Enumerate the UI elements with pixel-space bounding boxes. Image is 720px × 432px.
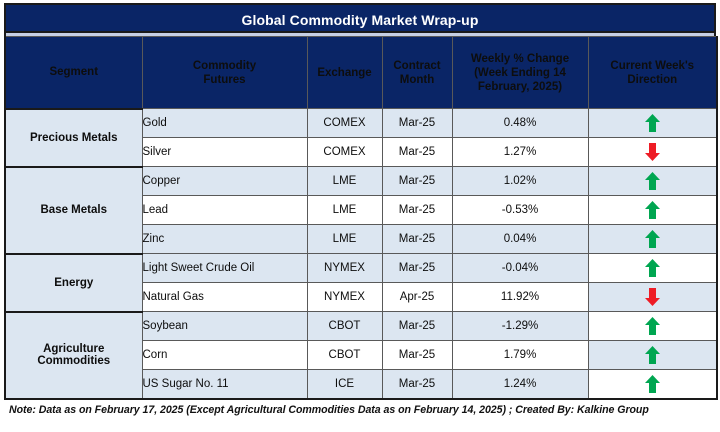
weekly-change-cell: -1.29% xyxy=(452,312,588,341)
commodity-wrapup-table: Global Commodity Market Wrap-up Segment … xyxy=(0,0,720,432)
contract-month-cell: Mar-25 xyxy=(382,109,452,138)
header-text-line2: Futures xyxy=(203,74,245,86)
weekly-change-cell: 1.79% xyxy=(452,341,588,370)
arrow-up-icon-cell xyxy=(588,370,717,399)
weekly-change-cell: 1.24% xyxy=(452,370,588,399)
exchange-cell: NYMEX xyxy=(307,254,382,283)
header-text-line1: Current Week's xyxy=(610,60,694,72)
column-header-direction: Current Week's Direction xyxy=(588,37,717,109)
column-header-commodity-futures: Commodity Futures xyxy=(142,37,307,109)
table-header: Segment Commodity Futures Exchange Contr… xyxy=(5,37,717,109)
contract-month-cell: Mar-25 xyxy=(382,254,452,283)
contract-month-cell: Mar-25 xyxy=(382,341,452,370)
weekly-change-cell: 1.27% xyxy=(452,138,588,167)
header-text: Segment xyxy=(49,66,98,78)
exchange-cell: LME xyxy=(307,167,382,196)
commodity-futures-cell: Soybean xyxy=(142,312,307,341)
commodity-futures-cell: US Sugar No. 11 xyxy=(142,370,307,399)
contract-month-cell: Mar-25 xyxy=(382,225,452,254)
contract-month-cell: Mar-25 xyxy=(382,196,452,225)
commodity-futures-cell: Zinc xyxy=(142,225,307,254)
table-row: EnergyLight Sweet Crude OilNYMEXMar-25-0… xyxy=(5,254,717,283)
commodity-futures-cell: Copper xyxy=(142,167,307,196)
segment-cell: Agriculture Commodities xyxy=(5,312,142,399)
column-header-exchange: Exchange xyxy=(307,37,382,109)
header-text-line2: Month xyxy=(400,74,434,86)
arrow-up-icon-cell xyxy=(588,254,717,283)
table-body: Precious MetalsGoldCOMEXMar-250.48%Silve… xyxy=(5,109,717,399)
exchange-cell: LME xyxy=(307,225,382,254)
table-row: Agriculture CommoditiesSoybeanCBOTMar-25… xyxy=(5,312,717,341)
exchange-cell: COMEX xyxy=(307,109,382,138)
exchange-cell: CBOT xyxy=(307,341,382,370)
commodity-futures-cell: Natural Gas xyxy=(142,283,307,312)
commodity-futures-cell: Corn xyxy=(142,341,307,370)
header-text-line2: (Week Ending 14 xyxy=(474,67,566,79)
arrow-up-icon-cell xyxy=(588,341,717,370)
weekly-change-cell: -0.04% xyxy=(452,254,588,283)
weekly-change-cell: 11.92% xyxy=(452,283,588,312)
segment-cell: Energy xyxy=(5,254,142,312)
segment-cell: Precious Metals xyxy=(5,109,142,167)
commodity-futures-cell: Gold xyxy=(142,109,307,138)
contract-month-cell: Mar-25 xyxy=(382,370,452,399)
exchange-cell: CBOT xyxy=(307,312,382,341)
commodity-table: Segment Commodity Futures Exchange Contr… xyxy=(4,36,718,400)
arrow-up-icon-cell xyxy=(588,167,717,196)
exchange-cell: COMEX xyxy=(307,138,382,167)
footer-note: Note: Data as on February 17, 2025 (Exce… xyxy=(4,404,716,416)
arrow-up-icon-cell xyxy=(588,109,717,138)
exchange-cell: LME xyxy=(307,196,382,225)
weekly-change-cell: -0.53% xyxy=(452,196,588,225)
commodity-futures-cell: Light Sweet Crude Oil xyxy=(142,254,307,283)
weekly-change-cell: 1.02% xyxy=(452,167,588,196)
column-header-contract-month: Contract Month xyxy=(382,37,452,109)
arrow-up-icon-cell xyxy=(588,312,717,341)
page-title: Global Commodity Market Wrap-up xyxy=(4,3,716,33)
commodity-futures-cell: Lead xyxy=(142,196,307,225)
contract-month-cell: Mar-25 xyxy=(382,167,452,196)
header-text-line1: Weekly % Change xyxy=(471,53,569,65)
arrow-down-icon-cell xyxy=(588,283,717,312)
column-header-weekly-change: Weekly % Change (Week Ending 14 February… xyxy=(452,37,588,109)
contract-month-cell: Mar-25 xyxy=(382,312,452,341)
weekly-change-cell: 0.48% xyxy=(452,109,588,138)
weekly-change-cell: 0.04% xyxy=(452,225,588,254)
commodity-futures-cell: Silver xyxy=(142,138,307,167)
header-text-line3: February, 2025) xyxy=(478,81,562,93)
arrow-up-icon-cell xyxy=(588,225,717,254)
header-text-line1: Commodity xyxy=(193,60,256,72)
segment-cell: Base Metals xyxy=(5,167,142,254)
contract-month-cell: Apr-25 xyxy=(382,283,452,312)
header-text: Exchange xyxy=(317,67,371,79)
header-text-line1: Contract xyxy=(393,60,440,72)
exchange-cell: NYMEX xyxy=(307,283,382,312)
column-header-segment: Segment xyxy=(5,37,142,109)
exchange-cell: ICE xyxy=(307,370,382,399)
table-row: Precious MetalsGoldCOMEXMar-250.48% xyxy=(5,109,717,138)
arrow-up-icon-cell xyxy=(588,196,717,225)
contract-month-cell: Mar-25 xyxy=(382,138,452,167)
header-text-line2: Direction xyxy=(627,74,677,86)
table-row: Base MetalsCopperLMEMar-251.02% xyxy=(5,167,717,196)
arrow-down-icon-cell xyxy=(588,138,717,167)
